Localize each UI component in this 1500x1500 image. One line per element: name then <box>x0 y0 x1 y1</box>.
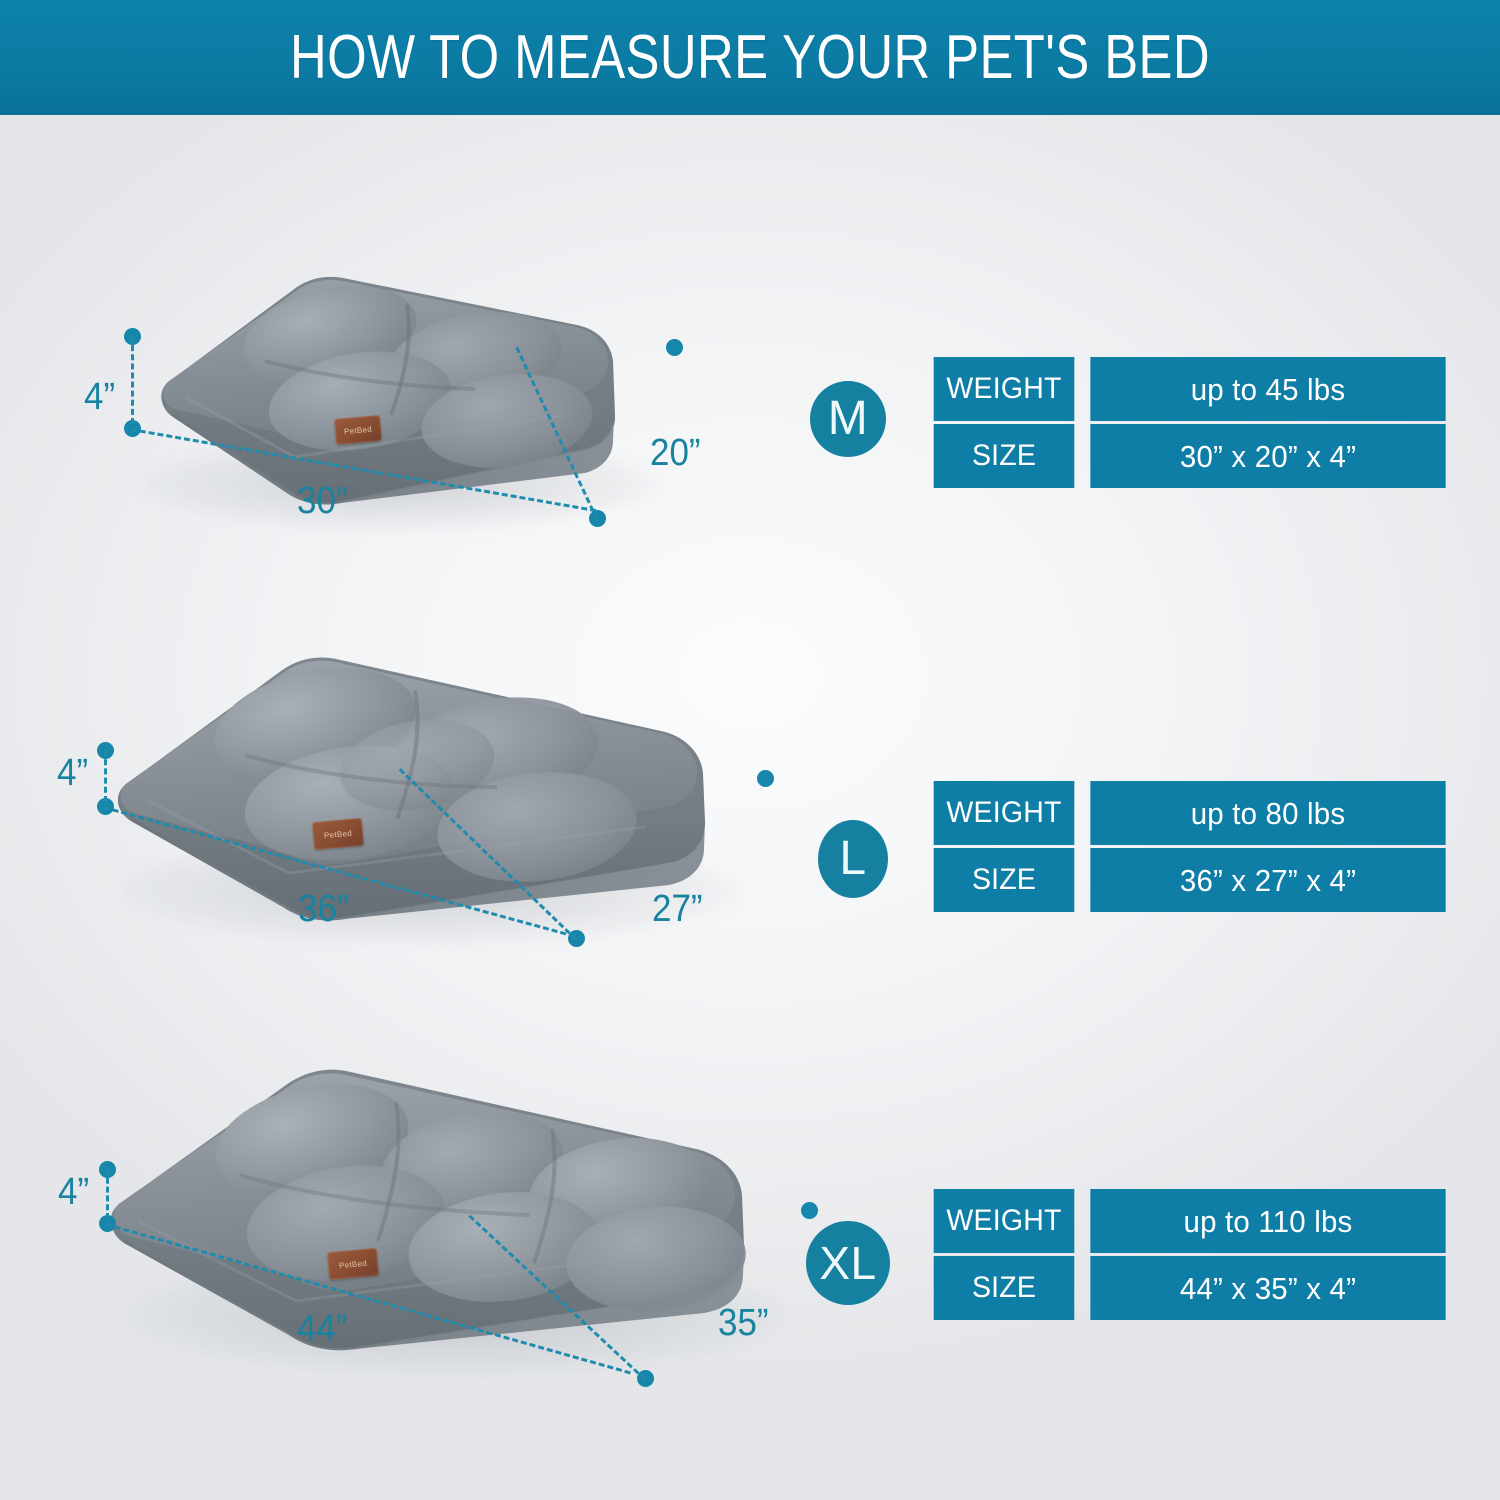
spec-label-size-xl: SIZE <box>934 1256 1075 1320</box>
size-badge-label-xl: XL <box>819 1240 876 1286</box>
brand-label-text-m: PetBed <box>334 415 382 445</box>
size-badge-label-l: L <box>839 835 866 883</box>
dim-line-m-height <box>131 336 134 424</box>
spec-value-size-m: 30” x 20” x 4” <box>1090 424 1445 488</box>
spec-table-xl: WEIGHT up to 110 lbs SIZE 44” x 35” x 4” <box>930 1189 1455 1320</box>
spec-value-size-l: 36” x 27” x 4” <box>1090 848 1445 912</box>
spec-label-weight-xl: WEIGHT <box>934 1189 1075 1253</box>
dim-dot-l-right-top <box>757 770 774 787</box>
pet-bed-illustration-m: PetBed <box>145 265 665 525</box>
spec-value-weight-xl: up to 110 lbs <box>1090 1189 1445 1253</box>
spec-table-l: WEIGHT up to 80 lbs SIZE 36” x 27” x 4” <box>930 781 1455 912</box>
dim-label-l-height: 4” <box>57 754 88 792</box>
spec-label-size-l: SIZE <box>934 848 1075 912</box>
spec-table-m: WEIGHT up to 45 lbs SIZE 30” x 20” x 4” <box>930 357 1455 488</box>
bed-svg-xl <box>100 1045 810 1365</box>
size-badge-m: M <box>810 381 886 457</box>
bed-svg-m <box>145 265 665 525</box>
dim-label-l-width: 36” <box>298 890 349 928</box>
size-badge-label-m: M <box>828 395 868 443</box>
size-badge-l: L <box>818 820 888 898</box>
brand-label-text-l: PetBed <box>312 818 364 850</box>
spec-label-size-m: SIZE <box>934 424 1075 488</box>
spec-value-weight-m: up to 45 lbs <box>1090 357 1445 421</box>
brand-label-tag-l: PetBed <box>312 818 364 850</box>
infographic-page: HOW TO MEASURE YOUR PET'S BED <box>0 0 1500 1500</box>
dim-label-xl-height: 4” <box>58 1173 89 1211</box>
spec-label-weight-l: WEIGHT <box>934 781 1075 845</box>
dim-line-xl-height <box>106 1169 109 1219</box>
dim-label-xl-width: 44” <box>297 1310 348 1348</box>
size-badge-xl: XL <box>806 1221 890 1305</box>
dim-label-m-depth: 20” <box>650 434 701 472</box>
pet-bed-illustration-xl: PetBed <box>100 1045 810 1365</box>
spec-value-size-xl: 44” x 35” x 4” <box>1090 1256 1445 1320</box>
dim-dot-xl-right-top <box>801 1202 818 1219</box>
dim-dot-m-right-top <box>666 339 683 356</box>
page-title: HOW TO MEASURE YOUR PET'S BED <box>135 0 1365 115</box>
dim-label-l-depth: 27” <box>652 890 703 928</box>
dim-label-xl-depth: 35” <box>718 1304 769 1342</box>
brand-label-tag-xl: PetBed <box>327 1248 379 1280</box>
brand-label-tag-m: PetBed <box>334 415 382 445</box>
dim-label-m-height: 4” <box>84 378 115 416</box>
spec-value-weight-l: up to 80 lbs <box>1090 781 1445 845</box>
spec-label-weight-m: WEIGHT <box>934 357 1075 421</box>
dim-line-l-height <box>104 750 107 802</box>
brand-label-text-xl: PetBed <box>327 1248 379 1280</box>
dim-label-m-width: 30” <box>297 482 348 520</box>
